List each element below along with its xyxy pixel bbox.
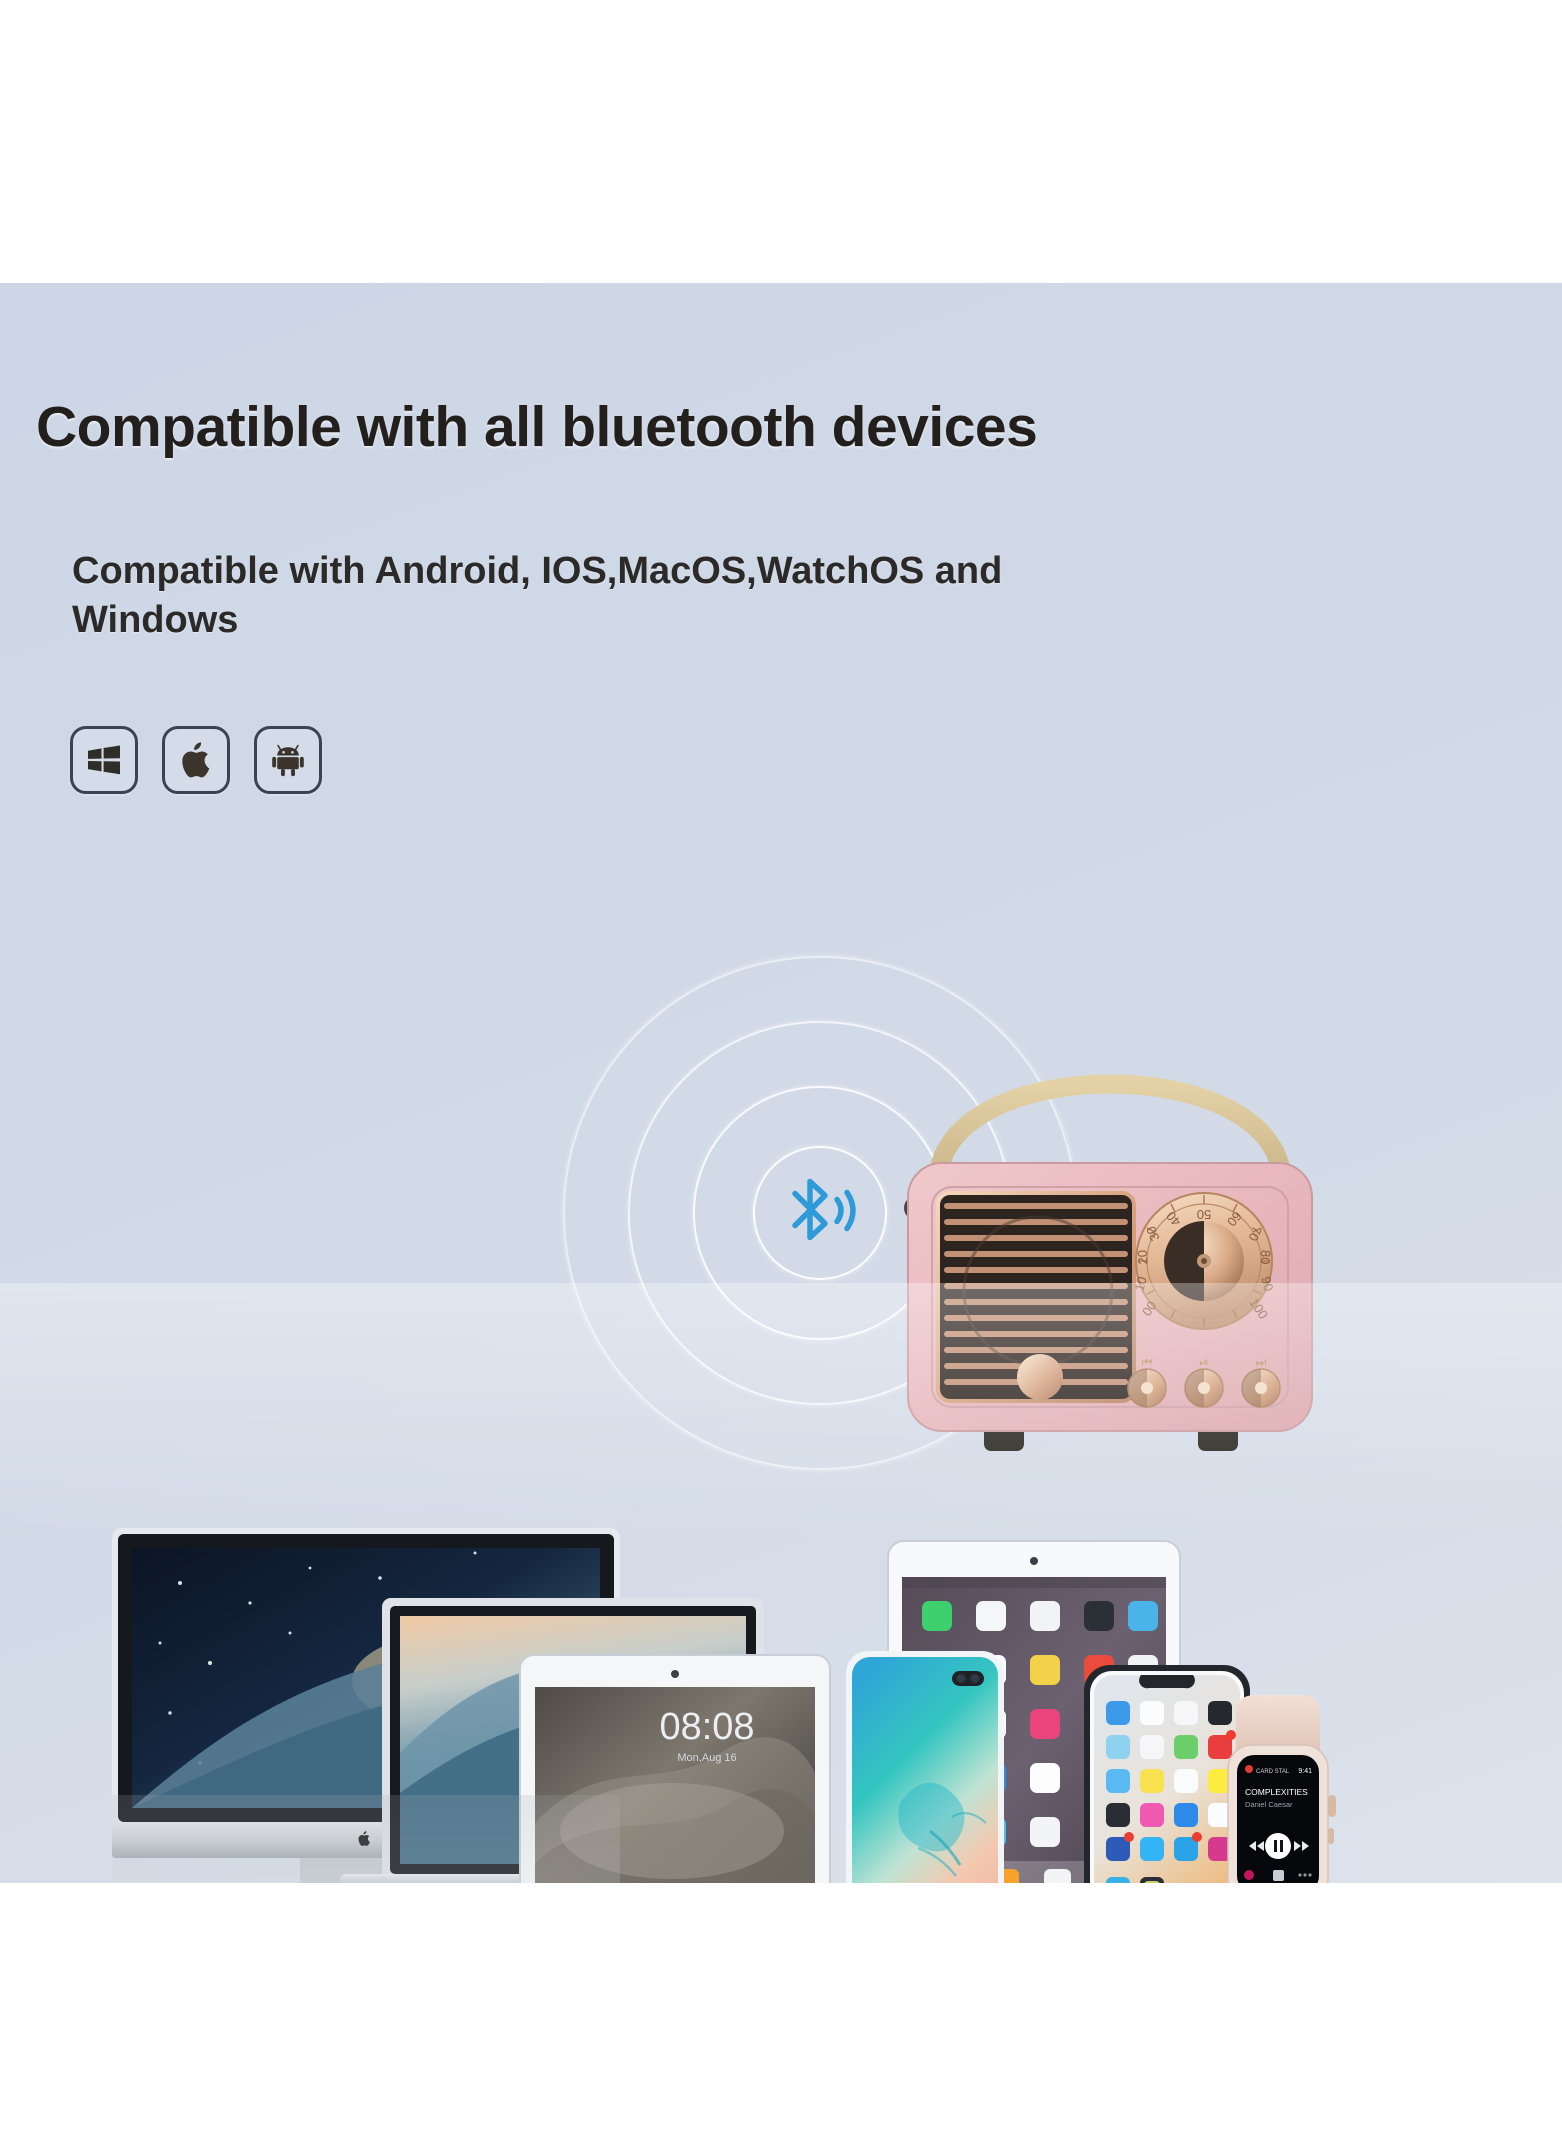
tablet-date: Mon,Aug 16 bbox=[677, 1752, 736, 1764]
ipad-front-camera bbox=[1030, 1557, 1038, 1565]
device-reflections bbox=[112, 1795, 620, 1883]
watch-more-icon bbox=[1298, 1873, 1311, 1876]
device-lineup: 08:08 Mon,Aug 16 Slide to unlock bbox=[0, 283, 1562, 1883]
watch-track-title: COMPLEXITIES bbox=[1245, 1787, 1308, 1797]
watch-artist: Daniel Caesar bbox=[1245, 1800, 1293, 1809]
device-galaxy-phone bbox=[846, 1651, 1004, 1883]
tablet-front-camera bbox=[671, 1670, 679, 1678]
feature-panel: Compatible with all bluetooth devices Co… bbox=[0, 283, 1562, 1883]
watch-side-button bbox=[1328, 1828, 1334, 1844]
device-iphone bbox=[1084, 1665, 1250, 1883]
iphone-notch bbox=[1139, 1675, 1195, 1688]
device-smartwatch: CARD STAL 9:41 COMPLEXITIES Daniel Caesa… bbox=[1228, 1695, 1336, 1883]
tablet-clock: 08:08 bbox=[659, 1706, 754, 1748]
watch-digital-crown bbox=[1328, 1795, 1336, 1817]
watch-pause-button bbox=[1265, 1833, 1291, 1859]
watch-app-icon bbox=[1245, 1765, 1253, 1773]
watch-app-name: CARD STAL bbox=[1256, 1769, 1290, 1775]
watch-list-icon bbox=[1273, 1870, 1284, 1881]
product-marketing-image: Compatible with all bluetooth devices Co… bbox=[0, 0, 1562, 2130]
watch-time: 9:41 bbox=[1298, 1768, 1312, 1775]
watch-airplay-icon bbox=[1244, 1870, 1254, 1880]
